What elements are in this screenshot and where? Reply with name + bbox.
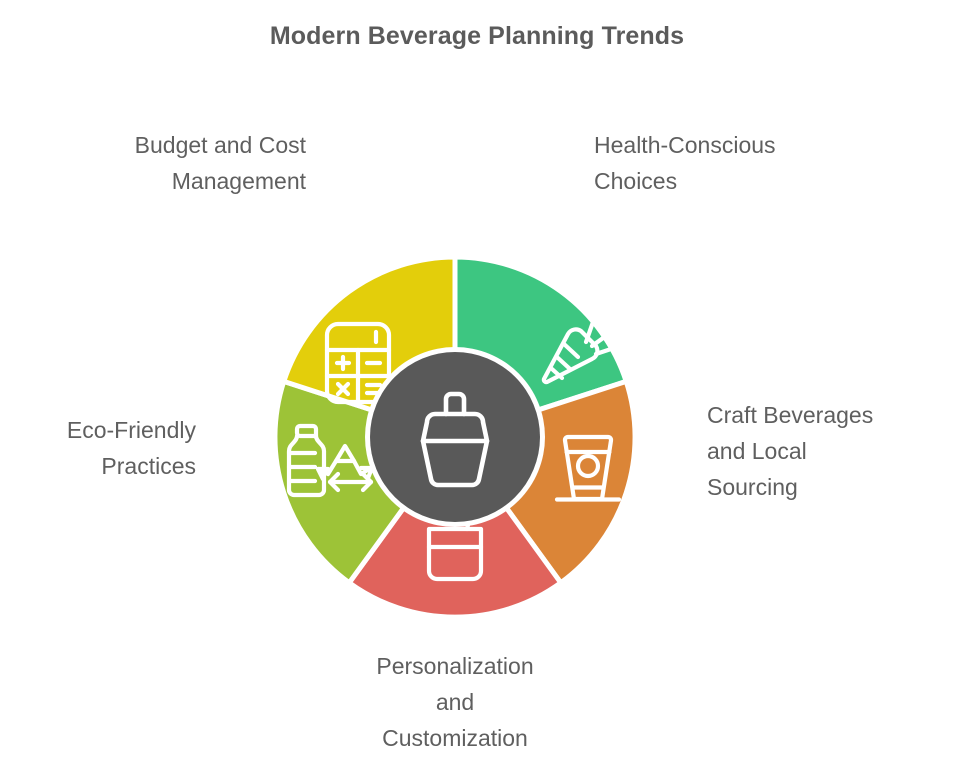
segment-label-craft-beverages-and-local-sourcing[interactable]: Craft Beverages and Local Sourcing	[707, 397, 947, 505]
segment-label-budget-and-cost-management[interactable]: Budget and Cost Management	[20, 127, 306, 199]
hub-circle[interactable]	[370, 352, 540, 522]
segment-label-personalization-and-customization[interactable]: Personalization and Customization	[312, 648, 598, 756]
infographic-root: Modern Beverage Planning Trends	[0, 0, 954, 775]
donut-wheel-svg	[255, 237, 655, 637]
hub[interactable]	[365, 347, 545, 527]
page-title: Modern Beverage Planning Trends	[0, 20, 954, 52]
donut-wheel	[255, 237, 655, 637]
segment-label-eco-friendly-practices[interactable]: Eco-Friendly Practices	[0, 412, 196, 484]
segment-label-health-conscious-choices[interactable]: Health-Conscious Choices	[594, 127, 894, 199]
